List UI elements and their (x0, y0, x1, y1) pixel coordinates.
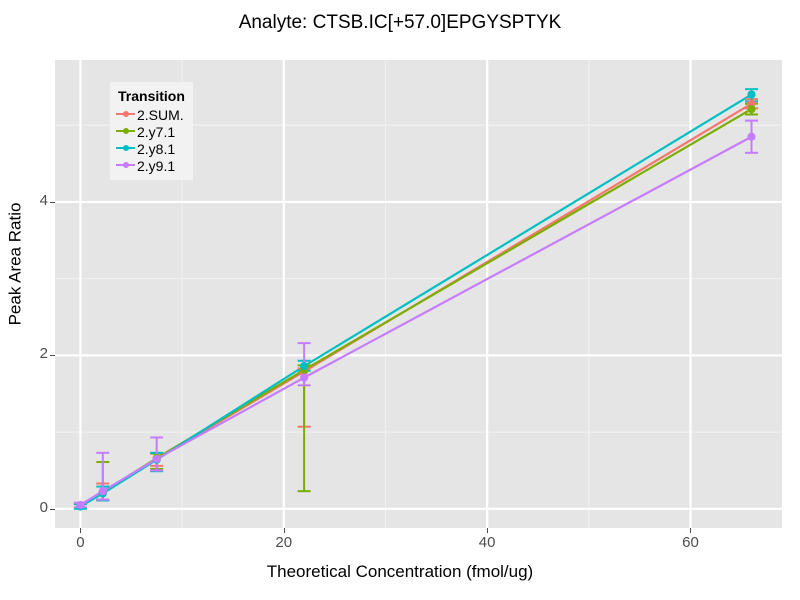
legend-item-label: 2.SUM. (137, 107, 184, 123)
y-tick-label: 4 (0, 192, 48, 209)
legend-item[interactable]: 2.y7.1 (116, 123, 185, 140)
x-tick-label: 40 (467, 534, 507, 551)
data-point (747, 90, 755, 98)
x-tick-mark (80, 528, 81, 533)
x-tick-mark (284, 528, 285, 533)
x-tick-label: 0 (60, 534, 100, 551)
y-axis-label: Peak Area Ratio (4, 0, 26, 528)
legend-item-label: 2.y9.1 (137, 158, 175, 174)
y-tick-label: 0 (0, 499, 48, 516)
legend-items: 2.SUM.2.y7.12.y8.12.y9.1 (116, 106, 185, 174)
legend-title: Transition (118, 88, 185, 104)
legend-key-icon (116, 123, 135, 140)
data-point (747, 105, 755, 113)
data-point (99, 487, 107, 495)
legend-item[interactable]: 2.y8.1 (116, 140, 185, 157)
legend-item-label: 2.y7.1 (137, 124, 175, 140)
legend-key-icon (116, 106, 135, 123)
series-line (80, 137, 751, 505)
y-axis-label-text: Peak Area Ratio (5, 203, 25, 326)
x-tick-label: 60 (670, 534, 710, 551)
x-tick-label: 20 (264, 534, 304, 551)
data-point (153, 455, 161, 463)
x-tick-mark (487, 528, 488, 533)
data-point (76, 501, 84, 509)
legend-item-label: 2.y8.1 (137, 141, 175, 157)
x-axis-label: Theoretical Concentration (fmol/ug) (0, 562, 800, 582)
data-point (747, 133, 755, 141)
legend-key-icon (116, 157, 135, 174)
chart-title: Analyte: CTSB.IC[+57.0]EPGYSPTYK (0, 12, 800, 34)
legend-item[interactable]: 2.y9.1 (116, 157, 185, 174)
x-tick-mark (690, 528, 691, 533)
data-point (300, 374, 308, 382)
y-tick-label: 2 (0, 345, 48, 362)
legend: Transition 2.SUM.2.y7.12.y8.12.y9.1 (110, 82, 193, 180)
legend-key-icon (116, 140, 135, 157)
legend-item[interactable]: 2.SUM. (116, 106, 185, 123)
chart-container: Analyte: CTSB.IC[+57.0]EPGYSPTYK Peak Ar… (0, 0, 800, 600)
data-point (300, 362, 308, 370)
